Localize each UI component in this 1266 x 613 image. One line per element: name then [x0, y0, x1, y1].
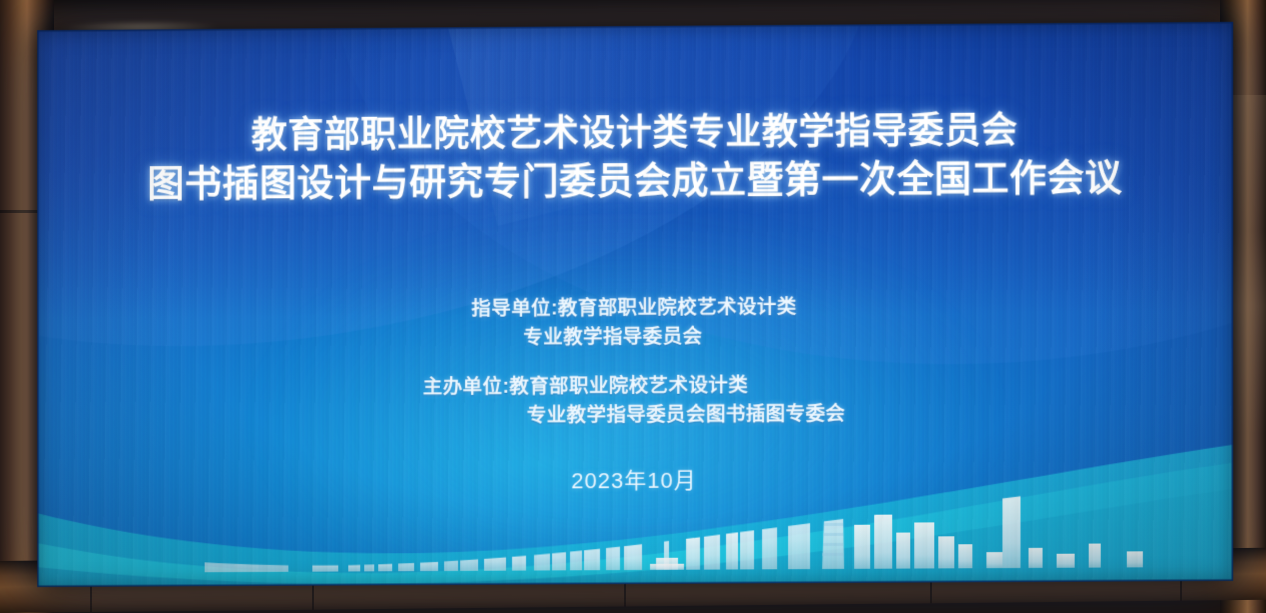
- led-display-screen: 教育部职业院校艺术设计类专业教学指导委员会 图书插图设计与研究专门委员会成立暨第…: [37, 22, 1233, 587]
- led-moire-pattern: [37, 22, 1233, 587]
- photo-of-conference-screen: 教育部职业院校艺术设计类专业教学指导委员会 图书插图设计与研究专门委员会成立暨第…: [0, 0, 1266, 613]
